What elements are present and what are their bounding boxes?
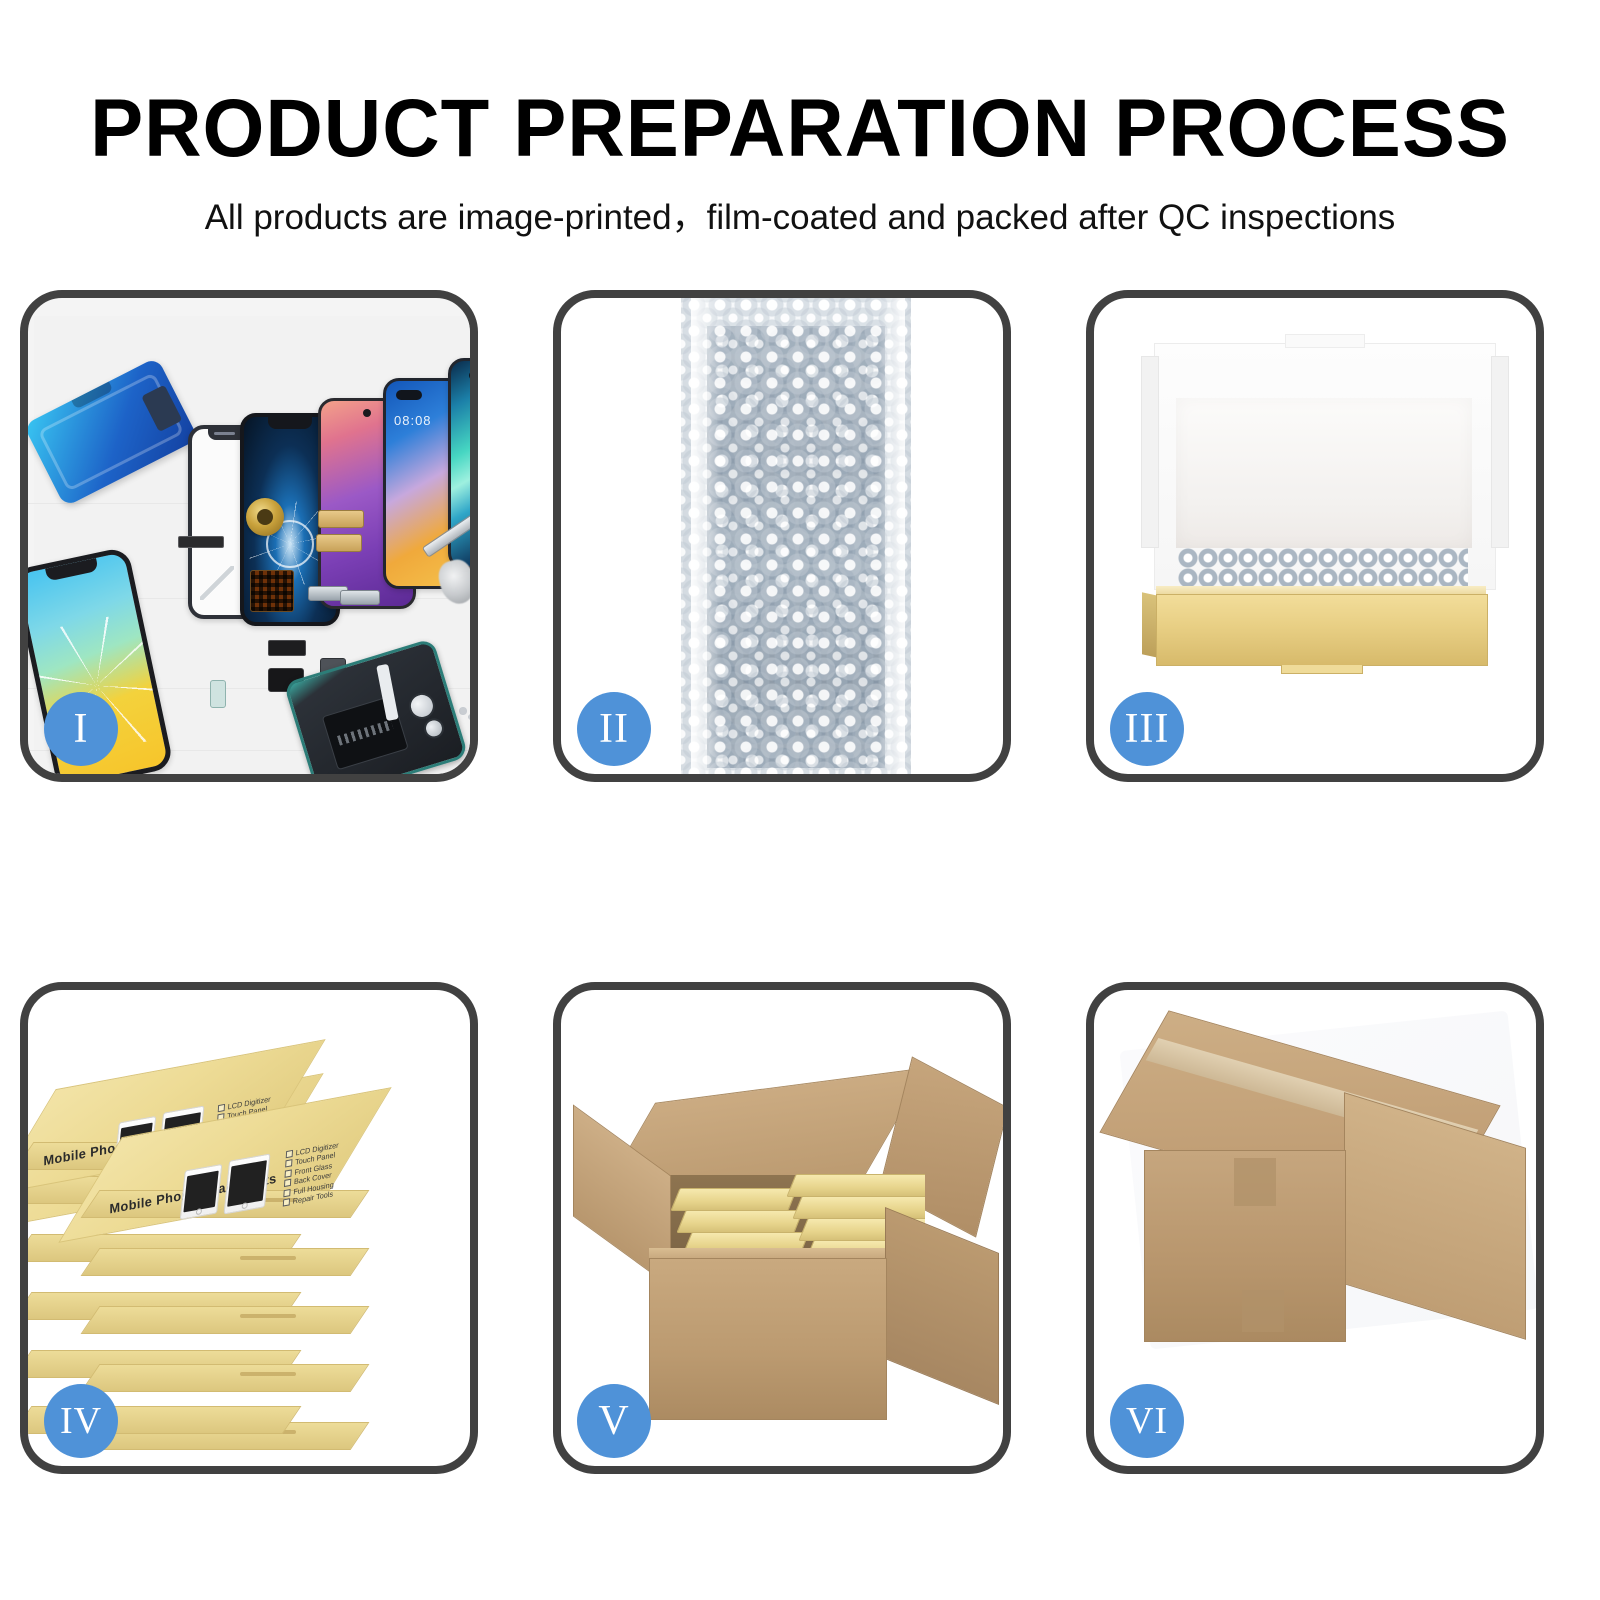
integrated-circuit xyxy=(250,570,294,612)
black-chip xyxy=(268,640,306,656)
step-panel-6[interactable]: VI xyxy=(1086,982,1544,1474)
screen-clock-text: 08:08 xyxy=(394,413,432,428)
box-slot xyxy=(240,1256,296,1260)
process-row-1: 08:08 xyxy=(20,290,1580,782)
screen-notch xyxy=(45,558,98,581)
lid-side-flap xyxy=(1141,356,1159,548)
carton-flap-seam xyxy=(1234,1158,1276,1206)
step-badge-1: I xyxy=(44,692,118,766)
box-slot xyxy=(240,1372,296,1376)
process-row-2: Mobile Phone Spare Parts LCD Digitizer T… xyxy=(20,982,1580,1474)
page-subtitle: All products are image-printed，film-coat… xyxy=(0,200,1600,235)
step-panel-2[interactable]: II xyxy=(553,290,1011,782)
punch-hole-camera xyxy=(469,371,470,380)
flex-cable xyxy=(318,510,364,528)
carton-right-face xyxy=(885,1207,999,1405)
process-steps-grid: 08:08 xyxy=(20,290,1580,1474)
box-product-thumbnail xyxy=(223,1153,270,1214)
flex-cable xyxy=(316,534,362,552)
foam-padding xyxy=(1176,398,1472,548)
box-slot xyxy=(240,1314,296,1318)
step-badge-2: II xyxy=(577,692,651,766)
earpiece-slot xyxy=(214,432,235,435)
step-badge-3: III xyxy=(1110,692,1184,766)
carton-front-face xyxy=(649,1258,887,1420)
lid-side-flap xyxy=(1491,356,1509,548)
thumbnail-home-button xyxy=(241,1202,248,1209)
pill-camera-cutout xyxy=(396,390,422,400)
step-panel-5[interactable]: V xyxy=(553,982,1011,1474)
sim-tray xyxy=(210,680,226,708)
wireless-charging-coil xyxy=(246,498,284,536)
page-title: PRODUCT PREPARATION PROCESS xyxy=(24,88,1576,170)
step-panel-3[interactable]: III xyxy=(1086,290,1544,782)
step-badge-5: V xyxy=(577,1384,651,1458)
screen-notch xyxy=(268,417,312,429)
box-side xyxy=(81,1364,370,1392)
plastic-sheen xyxy=(691,298,721,774)
step-panel-1[interactable]: 08:08 xyxy=(20,290,478,782)
box-checklist: LCD Digitizer Touch Panel Front Glass Ba… xyxy=(283,1140,339,1208)
packed-retail-box xyxy=(670,1188,797,1211)
button-flex-cable xyxy=(340,590,380,605)
bubble-wrap-bag xyxy=(681,298,911,774)
carton-flap-seam xyxy=(1242,1290,1284,1332)
thumbnail-screen xyxy=(227,1160,267,1207)
box-side xyxy=(81,1306,370,1334)
ribbon-cable xyxy=(200,566,234,600)
step-panel-4[interactable]: Mobile Phone Spare Parts LCD Digitizer T… xyxy=(20,982,478,1474)
lid-tab xyxy=(1285,334,1365,348)
camera-lens xyxy=(422,716,447,741)
board-connector xyxy=(178,536,224,548)
punch-hole-camera xyxy=(363,409,371,417)
product-preparation-infographic: PRODUCT PREPARATION PROCESS All products… xyxy=(0,0,1600,1600)
plastic-sheen xyxy=(879,298,905,774)
packed-retail-box xyxy=(676,1210,803,1233)
step-badge-6: VI xyxy=(1110,1384,1184,1458)
packed-retail-box xyxy=(786,1174,925,1197)
thumbnail-screen xyxy=(183,1171,218,1213)
box-side xyxy=(81,1248,370,1276)
box-front-panel xyxy=(1156,594,1488,666)
step-badge-4: IV xyxy=(44,1384,118,1458)
box-product-thumbnail xyxy=(180,1164,223,1220)
box-front-notch xyxy=(1281,665,1363,674)
header: PRODUCT PREPARATION PROCESS All products… xyxy=(0,0,1600,235)
thumbnail-home-button xyxy=(196,1208,203,1215)
